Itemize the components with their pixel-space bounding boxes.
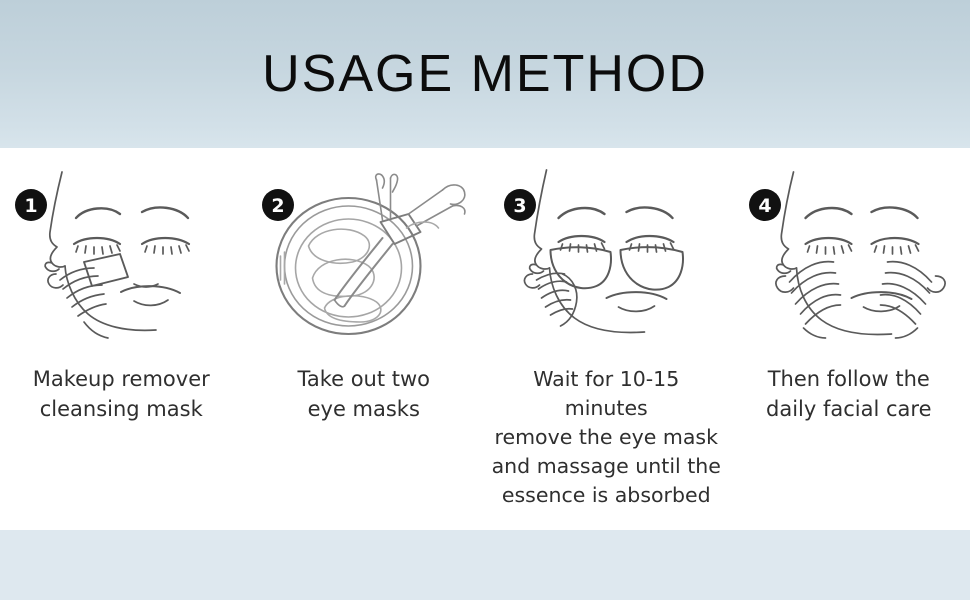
footer-band xyxy=(0,530,970,600)
step-item-4: 4 Then follow the daily facial care xyxy=(728,148,970,530)
step-number-badge-3: 3 xyxy=(503,188,537,222)
step-illustration-4: 4 xyxy=(728,148,970,363)
step-number-text-3: 3 xyxy=(513,195,526,217)
step-illustration-2: 2 xyxy=(243,148,486,363)
page-title: USAGE METHOD xyxy=(0,0,970,148)
step-item-3: 3 Wait for 10-15 minutes remove the eye … xyxy=(485,148,728,530)
step-item-1: 1 Makeup remover cleansing mask xyxy=(0,148,243,530)
step-caption-3: Wait for 10-15 minutes remove the eye ma… xyxy=(485,365,728,511)
step-caption-1: Makeup remover cleansing mask xyxy=(27,365,216,425)
step-number-text-4: 4 xyxy=(758,195,771,217)
step-number-badge-4: 4 xyxy=(748,188,782,222)
usage-method-banner: USAGE METHOD xyxy=(0,0,970,600)
step-item-2: 2 Take out two eye masks xyxy=(243,148,486,530)
step-number-badge-2: 2 xyxy=(261,188,295,222)
step-caption-4: Then follow the daily facial care xyxy=(760,365,938,425)
step-number-text-1: 1 xyxy=(24,195,37,217)
step-caption-2: Take out two eye masks xyxy=(291,365,436,425)
step-illustration-3: 3 xyxy=(485,148,728,363)
step-number-text-2: 2 xyxy=(271,195,284,217)
steps-row: 1 Makeup remover cleansing mask xyxy=(0,148,970,530)
step-illustration-1: 1 xyxy=(0,148,243,363)
step-number-badge-1: 1 xyxy=(14,188,48,222)
